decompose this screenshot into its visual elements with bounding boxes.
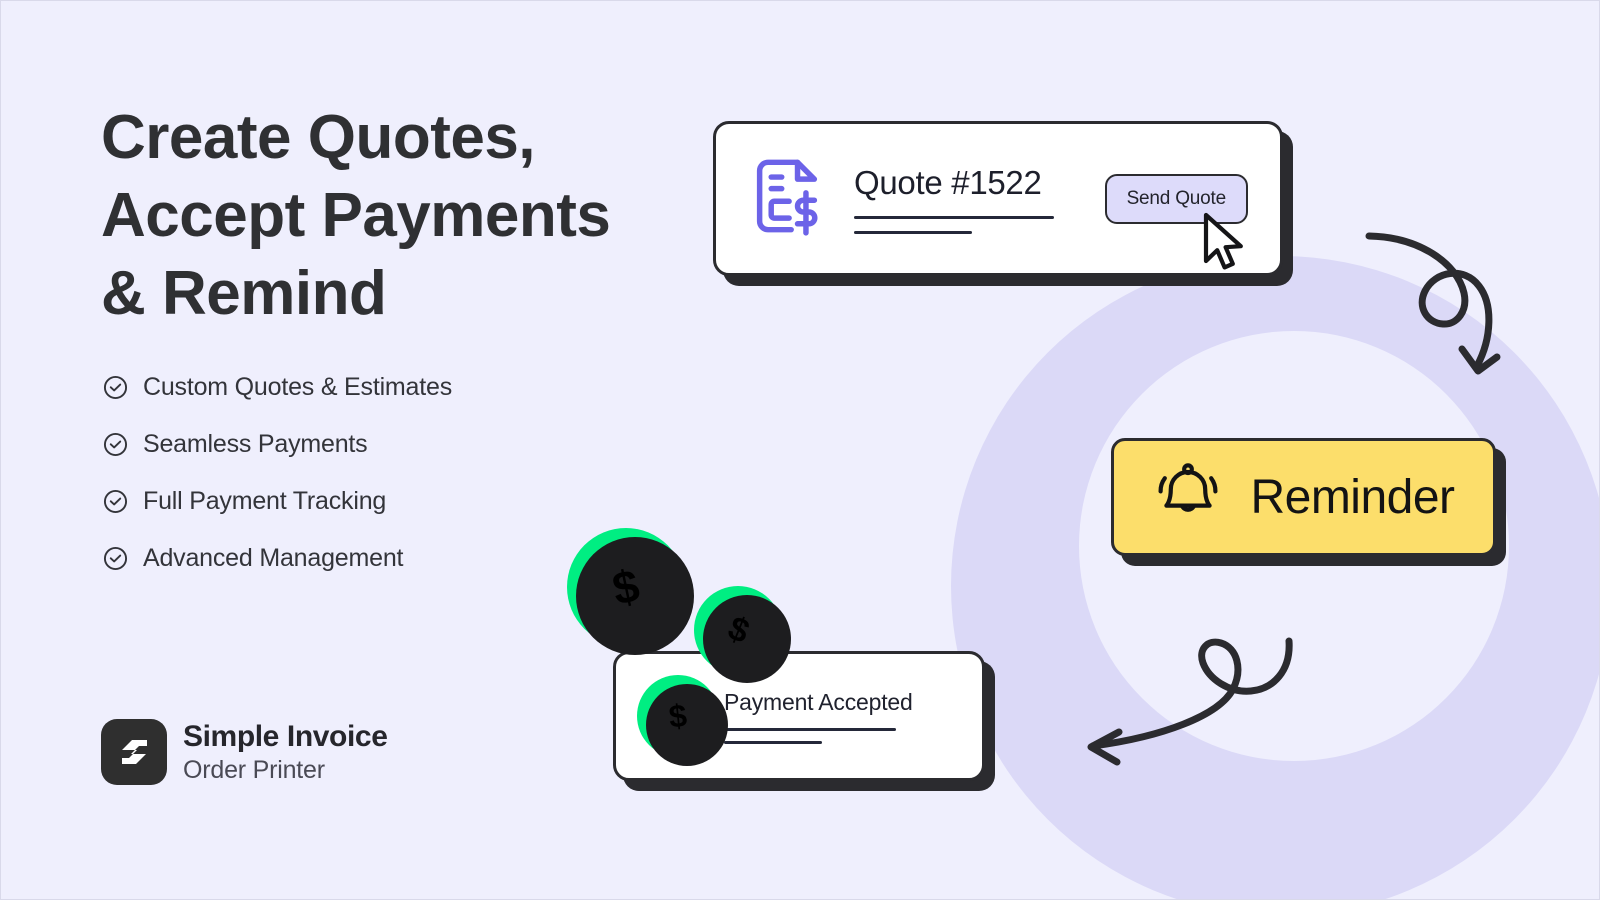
logo-subtitle: Order Printer bbox=[183, 758, 387, 783]
quote-card: Quote #1522 Send Quote bbox=[713, 121, 1283, 276]
coin-glyph: $ bbox=[667, 697, 689, 736]
logo-title: Simple Invoice bbox=[183, 722, 387, 752]
send-quote-button[interactable]: Send Quote bbox=[1105, 174, 1248, 224]
list-item: Advanced Management bbox=[102, 530, 452, 587]
list-item: Full Payment Tracking bbox=[102, 473, 452, 530]
invoice-dollar-icon bbox=[750, 156, 824, 241]
bell-icon bbox=[1152, 459, 1224, 536]
text-placeholder-line bbox=[854, 216, 1054, 219]
list-item: Custom Quotes & Estimates bbox=[102, 359, 452, 416]
feature-list: Custom Quotes & Estimates Seamless Payme… bbox=[102, 359, 452, 587]
dollar-coin-icon: $ bbox=[694, 586, 782, 674]
list-item: Seamless Payments bbox=[102, 416, 452, 473]
feature-label: Custom Quotes & Estimates bbox=[143, 373, 452, 402]
coin-glyph: $ bbox=[608, 558, 644, 616]
quote-title: Quote #1522 bbox=[854, 164, 1054, 202]
dollar-coin-icon: $ bbox=[637, 675, 719, 757]
payment-title: Payment Accepted bbox=[724, 689, 913, 716]
feature-label: Full Payment Tracking bbox=[143, 487, 386, 516]
circle-check-icon bbox=[102, 431, 129, 458]
brand-logo: Simple Invoice Order Printer bbox=[101, 719, 387, 785]
circle-check-icon bbox=[102, 374, 129, 401]
text-placeholder-line bbox=[724, 741, 822, 744]
text-placeholder-line bbox=[854, 231, 972, 234]
page-title: Create Quotes, Accept Payments & Remind bbox=[101, 99, 721, 333]
text-placeholder-line bbox=[724, 728, 896, 731]
promo-banner: Create Quotes, Accept Payments & Remind … bbox=[0, 0, 1600, 900]
simple-invoice-logo-icon bbox=[101, 719, 167, 785]
feature-label: Advanced Management bbox=[143, 544, 403, 573]
reminder-button[interactable]: Reminder bbox=[1111, 438, 1496, 556]
circle-check-icon bbox=[102, 488, 129, 515]
feature-label: Seamless Payments bbox=[143, 430, 367, 459]
reminder-label: Reminder bbox=[1250, 470, 1454, 525]
dollar-coin-icon: $ bbox=[567, 528, 685, 646]
circle-check-icon bbox=[102, 545, 129, 572]
coin-glyph: $ bbox=[722, 608, 754, 651]
